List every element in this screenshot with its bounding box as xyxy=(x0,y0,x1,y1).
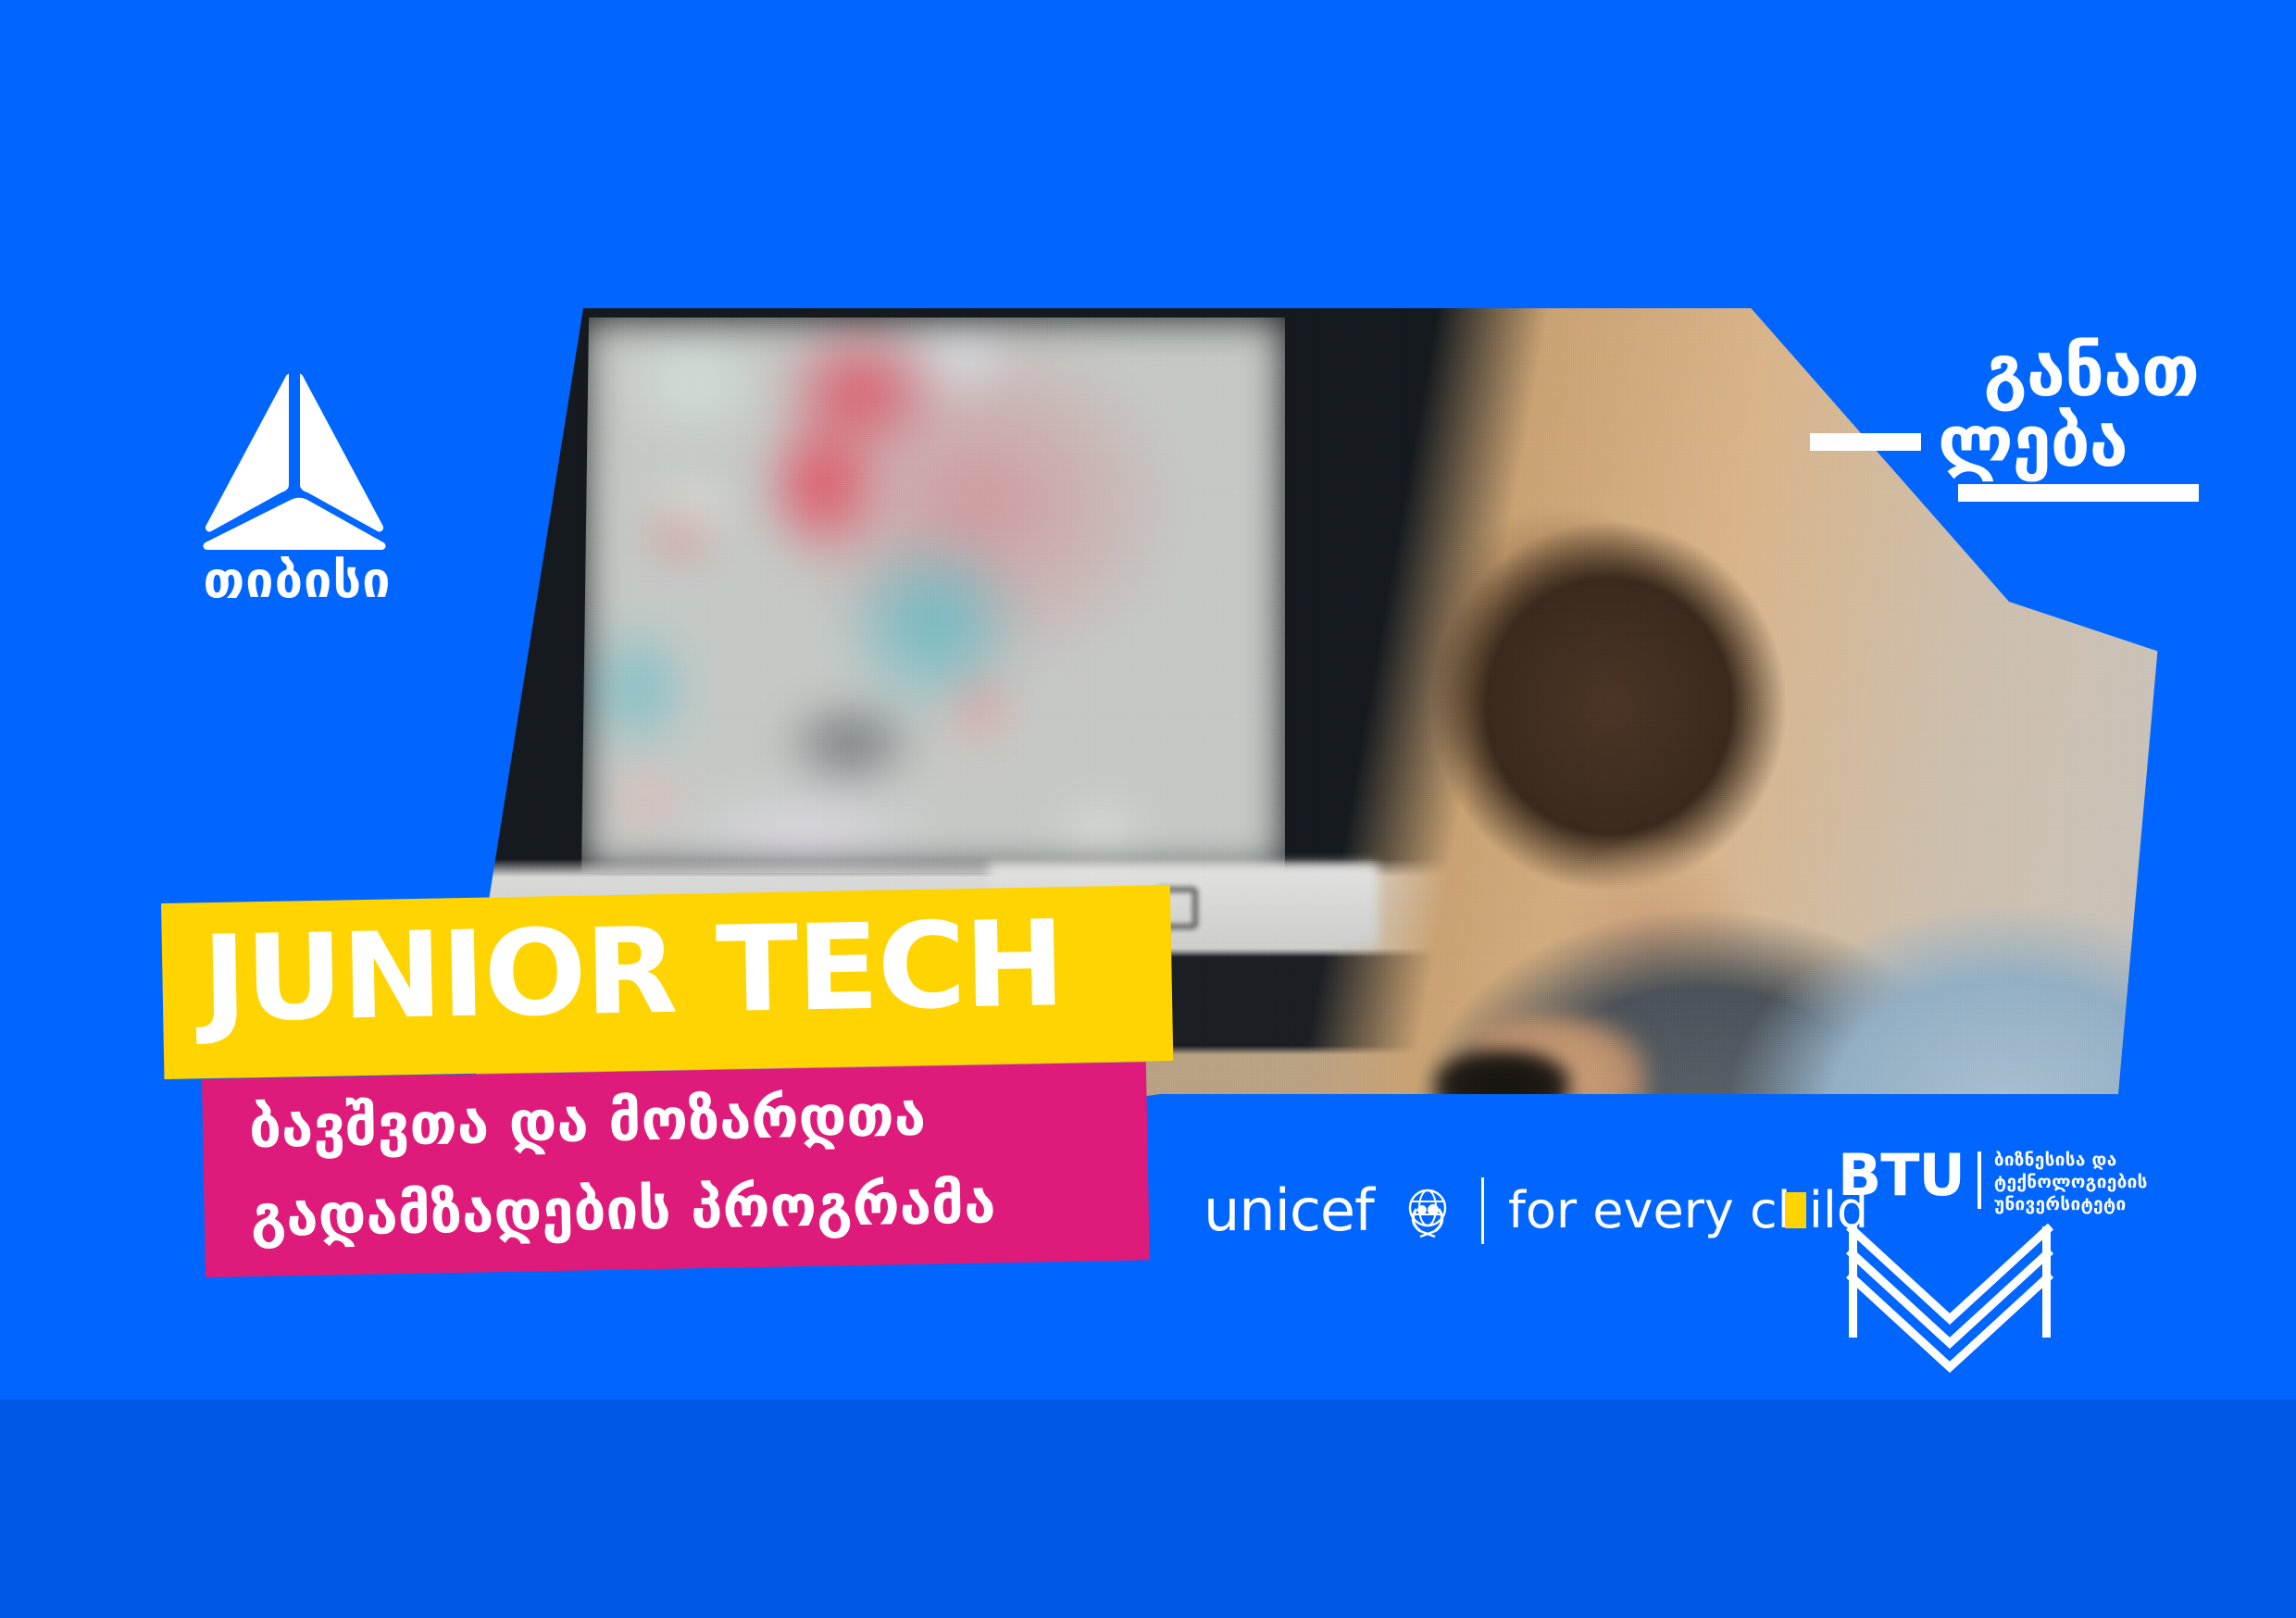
bottom-color-band xyxy=(0,1400,2296,1618)
ganatleba-logo: განათ ლება xyxy=(1810,338,2199,502)
btu-logo: BTU ბიზნესისა და ტექნოლოგიების უნივერსიტ… xyxy=(1838,1150,2148,1391)
btu-name-line-3: უნივერსიტეტი xyxy=(1994,1194,2148,1216)
page-title: JUNIOR TECH xyxy=(201,905,1064,1039)
ganatleba-line-1: განათ xyxy=(1810,338,2199,404)
btu-logo-top: BTU ბიზნესისა და ტექნოლოგიების უნივერსიტ… xyxy=(1838,1150,2148,1215)
unicef-globe-emblem xyxy=(1398,1181,1457,1240)
campaign-banner: თიბისი განათ ლება JUNIOR TECH ბავშვთა და… xyxy=(0,0,2296,1618)
ganatleba-word-1: განათ xyxy=(1983,338,2199,404)
ganatleba-line-2: ლება xyxy=(1810,408,2199,475)
unicef-wordmark: unicef xyxy=(1204,1182,1374,1239)
ganatleba-underline-bar-bottom xyxy=(1958,484,2199,502)
ganatleba-word-2: ლება xyxy=(1938,408,2128,475)
btu-chevron-mark xyxy=(1843,1221,2056,1388)
unicef-logo: unicef for every child xyxy=(1204,1177,1868,1244)
btu-name-lines: ბიზნესისა და ტექნოლოგიების უნივერსიტეტი xyxy=(1994,1150,2148,1215)
unicef-divider xyxy=(1481,1177,1484,1244)
subtitle-block: ბავშვთა და მოზარდთა გადამზადების პროგრამ… xyxy=(202,1062,1150,1277)
btu-divider xyxy=(1978,1151,1981,1209)
unicef-tagline: for every child xyxy=(1508,1186,1868,1236)
subtitle-line-1: ბავშვთა და მოზარდთა xyxy=(248,1087,926,1156)
ganatleba-underline-bars xyxy=(1810,433,1921,451)
tbc-wordmark: თიბისი xyxy=(181,555,413,605)
subtitle-line-2: გადამზადების პროგრამა xyxy=(250,1174,996,1245)
btu-name-line-2: ტექნოლოგიების xyxy=(1994,1172,2148,1194)
headline-block: JUNIOR TECH xyxy=(161,885,1173,1079)
btu-wordmark: BTU xyxy=(1838,1150,1965,1201)
btu-name-line-1: ბიზნესისა და xyxy=(1994,1150,2148,1172)
yellow-square-separator xyxy=(1785,1192,1806,1228)
